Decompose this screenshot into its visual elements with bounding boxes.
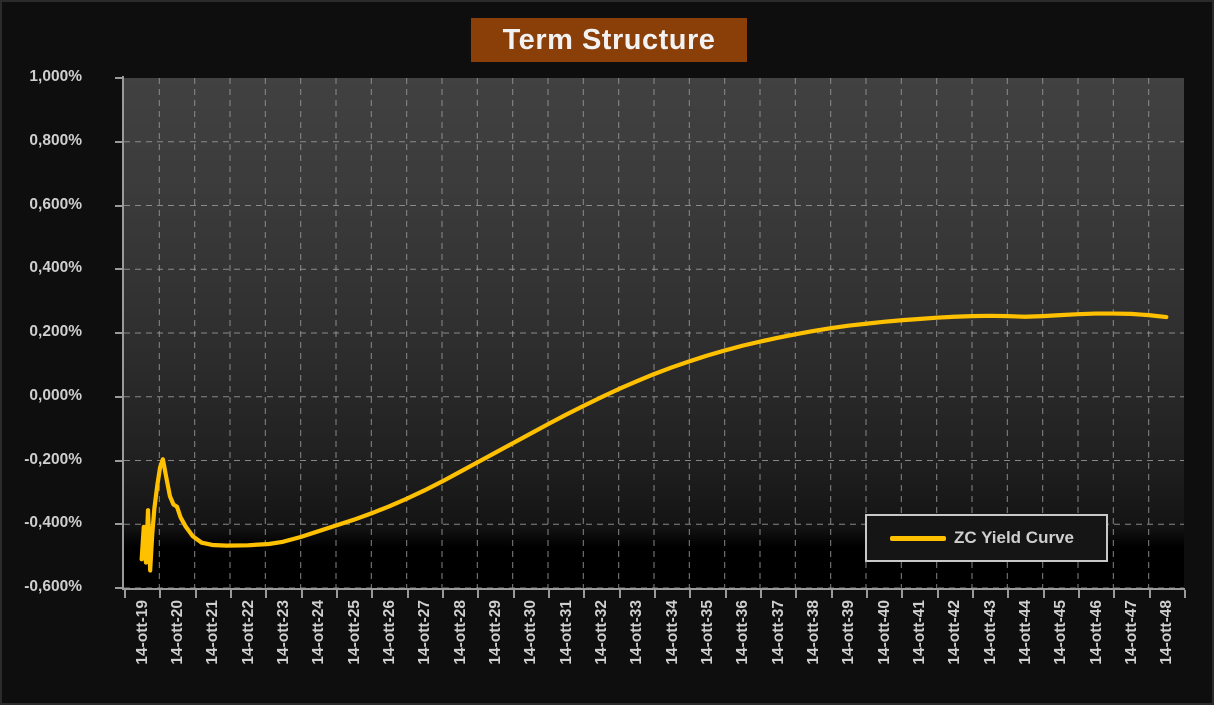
x-axis-tick-label: 14-ott-30 xyxy=(522,600,540,665)
chart-legend: ZC Yield Curve xyxy=(865,514,1108,562)
y-axis-tick-label: -0,600% xyxy=(0,578,82,596)
y-axis-tick-label: 0,400% xyxy=(0,259,82,277)
x-axis-tick xyxy=(301,590,303,598)
x-axis-tick-label: 14-ott-31 xyxy=(558,600,576,665)
x-axis-tick xyxy=(124,590,126,598)
y-axis-tick xyxy=(115,77,123,79)
x-axis-tick-label: 14-ott-42 xyxy=(946,600,964,665)
x-axis-tick-label: 14-ott-24 xyxy=(310,600,328,665)
x-axis-tick xyxy=(654,590,656,598)
y-axis-tick xyxy=(115,587,123,589)
x-axis-tick xyxy=(195,590,197,598)
y-axis-tick-label: 0,000% xyxy=(0,387,82,405)
x-axis-tick-label: 14-ott-43 xyxy=(982,600,1000,665)
x-axis-tick xyxy=(689,590,691,598)
legend-label-zc-yield-curve: ZC Yield Curve xyxy=(954,528,1074,548)
x-axis-tick-label: 14-ott-37 xyxy=(770,600,788,665)
x-axis-tick-label: 14-ott-28 xyxy=(452,600,470,665)
x-axis-tick xyxy=(619,590,621,598)
x-axis-tick xyxy=(230,590,232,598)
x-axis-tick xyxy=(1184,590,1186,598)
x-axis-tick-label: 14-ott-45 xyxy=(1052,600,1070,665)
x-axis-tick xyxy=(583,590,585,598)
x-axis-tick xyxy=(336,590,338,598)
x-axis-tick-label: 14-ott-36 xyxy=(734,600,752,665)
term-structure-chart: Term Structure 1,000%0,800%0,600%0,400%0… xyxy=(0,0,1214,705)
x-axis-tick-label: 14-ott-23 xyxy=(275,600,293,665)
series-zc-yield-curve xyxy=(124,78,1184,588)
chart-title: Term Structure xyxy=(471,18,747,62)
x-axis-tick xyxy=(937,590,939,598)
y-axis-tick xyxy=(115,268,123,270)
x-axis-tick-label: 14-ott-41 xyxy=(911,600,929,665)
x-axis-tick-label: 14-ott-35 xyxy=(699,600,717,665)
x-axis-tick xyxy=(1113,590,1115,598)
y-axis-tick xyxy=(115,141,123,143)
x-axis-tick-label: 14-ott-32 xyxy=(593,600,611,665)
x-axis-tick-label: 14-ott-27 xyxy=(416,600,434,665)
y-axis-tick xyxy=(115,396,123,398)
x-axis-tick-label: 14-ott-40 xyxy=(876,600,894,665)
x-axis-tick-label: 14-ott-21 xyxy=(204,600,222,665)
x-axis-tick xyxy=(831,590,833,598)
x-axis-tick xyxy=(442,590,444,598)
y-axis-tick-label: 1,000% xyxy=(0,68,82,86)
x-axis-tick-label: 14-ott-26 xyxy=(381,600,399,665)
y-axis-tick-label: -0,400% xyxy=(0,514,82,532)
y-axis-tick-label: 0,600% xyxy=(0,196,82,214)
y-axis-tick xyxy=(115,460,123,462)
y-axis-tick-label: 0,200% xyxy=(0,323,82,341)
plot-area xyxy=(124,78,1184,588)
x-axis-tick-label: 14-ott-20 xyxy=(169,600,187,665)
y-axis-tick xyxy=(115,523,123,525)
x-axis-tick xyxy=(1078,590,1080,598)
x-axis-tick xyxy=(901,590,903,598)
legend-line-swatch xyxy=(890,536,946,541)
x-axis-tick xyxy=(1149,590,1151,598)
x-axis-tick-label: 14-ott-19 xyxy=(134,600,152,665)
x-axis-tick-label: 14-ott-25 xyxy=(346,600,364,665)
x-axis-tick-label: 14-ott-46 xyxy=(1088,600,1106,665)
x-axis-tick-label: 14-ott-47 xyxy=(1123,600,1141,665)
x-axis-tick xyxy=(760,590,762,598)
x-axis-tick xyxy=(477,590,479,598)
y-axis-tick-label: -0,200% xyxy=(0,451,82,469)
x-axis-tick xyxy=(513,590,515,598)
x-axis-tick-label: 14-ott-33 xyxy=(628,600,646,665)
y-axis-tick xyxy=(115,332,123,334)
x-axis-tick xyxy=(1043,590,1045,598)
x-axis-tick-label: 14-ott-39 xyxy=(840,600,858,665)
x-axis-tick xyxy=(265,590,267,598)
x-axis-tick-label: 14-ott-34 xyxy=(664,600,682,665)
x-axis-tick-label: 14-ott-22 xyxy=(240,600,258,665)
x-axis-tick xyxy=(866,590,868,598)
x-axis-tick xyxy=(159,590,161,598)
x-axis-tick-label: 14-ott-38 xyxy=(805,600,823,665)
x-axis-tick-label: 14-ott-29 xyxy=(487,600,505,665)
x-axis-tick xyxy=(1007,590,1009,598)
x-axis-tick xyxy=(371,590,373,598)
x-axis-tick xyxy=(407,590,409,598)
x-axis-tick-label: 14-ott-44 xyxy=(1017,600,1035,665)
y-axis-tick-label: 0,800% xyxy=(0,132,82,150)
x-axis-tick xyxy=(548,590,550,598)
x-axis-tick xyxy=(795,590,797,598)
x-axis-tick xyxy=(725,590,727,598)
y-axis-tick xyxy=(115,205,123,207)
x-axis-tick-label: 14-ott-48 xyxy=(1158,600,1176,665)
x-axis-tick xyxy=(972,590,974,598)
